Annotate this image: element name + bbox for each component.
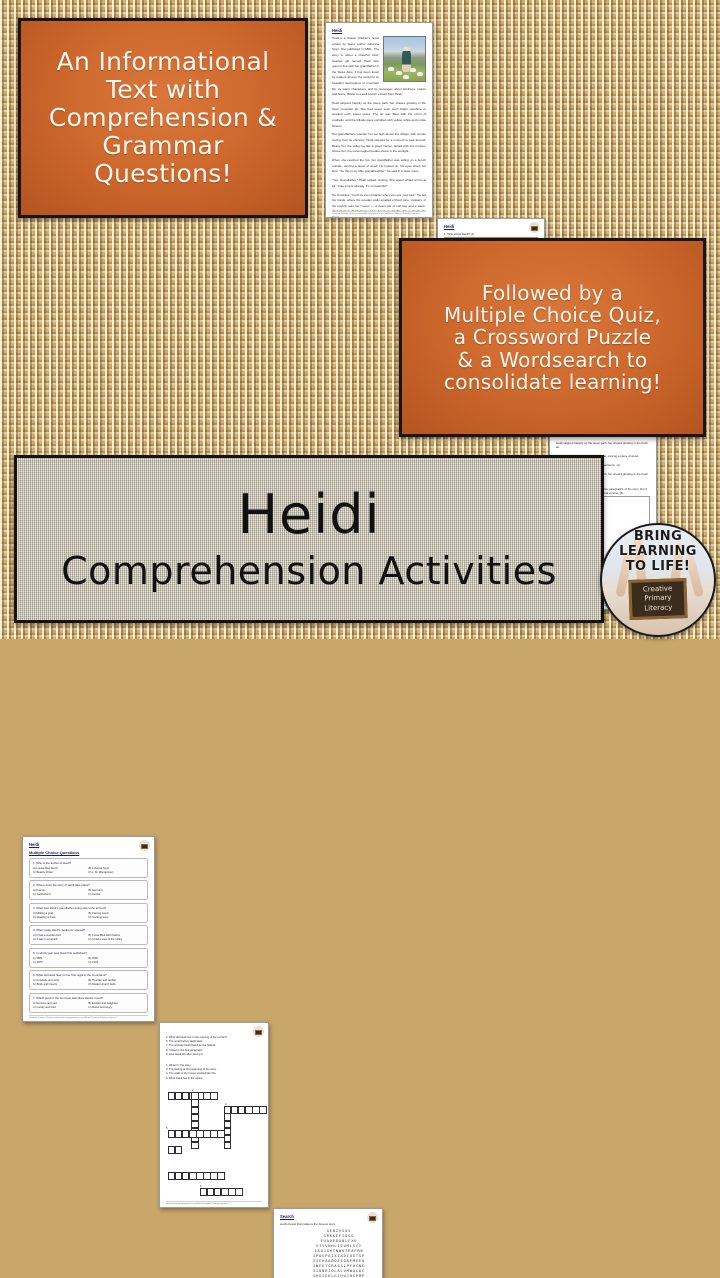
crossword-entry[interactable]	[224, 1107, 231, 1149]
mcq-item[interactable]: 1. Who is the author of Heidi? A) Louisa…	[29, 858, 148, 878]
passage-paragraph: When she reached the hut, her grandfathe…	[332, 158, 426, 175]
mcq-item[interactable]: 2. Where does the story of Heidi take pl…	[29, 880, 148, 900]
brand-logo-icon	[529, 222, 540, 233]
sheet-title: Heidi	[29, 842, 148, 847]
callout-line: consolidate learning!	[444, 371, 661, 393]
wordsearch-intro: words below that relate to the famous st…	[280, 1222, 376, 1226]
badge-line: TO LIFE!	[626, 559, 690, 574]
mcq-question: 6. What did Heidi hear on her first nigh…	[33, 973, 144, 977]
mcq-option[interactable]: D) Distant church bells	[89, 983, 145, 987]
brand-logo-icon	[139, 840, 150, 851]
wordsearch-row: IHUZEKLGIHUJHSPMP	[280, 1274, 383, 1278]
callout-line: Questions!	[94, 160, 232, 188]
clue: 6. What Heidi has in the alpine.	[166, 1077, 262, 1081]
mcq-option[interactable]: C) Birds and insects	[33, 983, 89, 987]
mcq-option[interactable]: C) 1875	[33, 961, 89, 965]
mcq-question: 4. What made Heidi's 'bedroom' special?	[33, 928, 144, 932]
crossword-entry[interactable]	[192, 1093, 199, 1150]
crossword-entry[interactable]	[168, 1173, 225, 1180]
callout-line: & a Wordsearch to	[458, 349, 648, 371]
sheet-multiple-choice: Heidi Multiple Choice Questions 1. Who i…	[22, 836, 155, 1022]
crossword-down-clues: 1. Winter in the story. 3. The feeling a…	[166, 1064, 262, 1081]
sheet-wordsearch: Search words below that relate to the fa…	[273, 1208, 383, 1278]
mcq-option[interactable]: D) Bored and angry	[89, 1006, 145, 1010]
passage-paragraph: "Yes, Grandfather," Heidi replied, smili…	[332, 178, 426, 189]
title-bar: Heidi Comprehension Activities	[14, 455, 604, 623]
sheet-title: Heidi	[332, 28, 426, 33]
grammar-item: Heidi skipped happily up the steep path,…	[556, 441, 650, 449]
badge-line: LEARNING	[619, 544, 697, 559]
callout-line: a Crossword Puzzle	[454, 326, 652, 348]
mcq-option[interactable]: C) Beatrix Potter	[33, 871, 89, 875]
mcq-question: 5. In which year was Heidi first publish…	[33, 951, 144, 955]
callout-line: An Informational	[57, 48, 270, 76]
sheet-crossword: 2. What did Heidi see in the opening of …	[159, 1022, 269, 1208]
mcq-question: 1. Who is the author of Heidi?	[33, 861, 144, 865]
wordsearch-grid[interactable]: GEBZVSUV GRRKEFIDGG EUAQEDABLFXU VTYVNHL…	[280, 1229, 383, 1278]
mcq-question: 7. Which word in the text best describes…	[33, 996, 144, 1000]
callout-line: Text with	[106, 76, 220, 104]
passage-paragraph: Her grandfather's wooden hut sat high ab…	[332, 132, 426, 155]
mcq-option[interactable]: D) It had a view of the valley	[89, 938, 145, 942]
crossword-entry[interactable]	[168, 1131, 225, 1138]
page-title: Heidi	[237, 488, 380, 542]
chalkboard-icon: Creative Primary Literacy	[628, 578, 687, 620]
mcq-item[interactable]: 7. Which word in the text best describes…	[29, 993, 148, 1013]
mcq-option[interactable]: C) Switzerland	[33, 893, 89, 897]
mcq-option[interactable]: D) Cooking soup	[89, 916, 145, 920]
mcq-question: 2. Where does the story of Heidi take pl…	[33, 883, 144, 887]
sheet-title: Heidi	[444, 224, 538, 229]
chalkboard-text: Creative Primary Literacy	[632, 585, 685, 614]
callout-line: Comprehension &	[49, 104, 277, 132]
sheet-title: Search	[280, 1214, 376, 1219]
mcq-question: 3. What was Heidi's grandfather doing wh…	[33, 906, 144, 910]
crossword-grid[interactable]: 2 4 5 9	[166, 1085, 262, 1201]
brand-logo-icon	[367, 1212, 378, 1223]
callout-line: Multiple Choice Quiz,	[444, 304, 661, 326]
sheet-credit: Creative Primary Literacy www.teacherspa…	[29, 1015, 148, 1019]
callout-line: Followed by a	[482, 282, 623, 304]
passage-paragraph: Heidi skipped happily up the steep path,…	[332, 101, 426, 129]
crossword-entry[interactable]	[168, 1147, 182, 1154]
sheet-subtitle: Multiple Choice Questions	[29, 850, 148, 855]
callout-line: Grammar	[102, 132, 223, 160]
mcq-item[interactable]: 5. In which year was Heidi first publish…	[29, 948, 148, 968]
brand-logo-icon	[253, 1026, 264, 1037]
callout-followed-by: Followed by a Multiple Choice Quiz, a Cr…	[399, 238, 706, 437]
mcq-option[interactable]: C) Lonely and tired	[33, 1006, 89, 1010]
brand-badge: BRING LEARNING TO LIFE! Creative Primary…	[600, 523, 716, 637]
mcq-option[interactable]: D) L. M. Montgomery	[89, 871, 145, 875]
badge-line: BRING	[634, 529, 682, 544]
mcq-option[interactable]: C) It was in a hayloft	[33, 938, 89, 942]
sheet-credit: Creative Primary Literacy www.teacherspa…	[332, 211, 426, 215]
mcq-item[interactable]: 6. What did Heidi hear on her first nigh…	[29, 970, 148, 990]
mcq-option[interactable]: D) Austria	[89, 893, 145, 897]
page-subtitle: Comprehension Activities	[61, 552, 557, 590]
crossword-entry[interactable]	[200, 1189, 242, 1196]
mcq-option[interactable]: D) 1901	[89, 961, 145, 965]
callout-informational-text: An Informational Text with Comprehension…	[18, 18, 308, 218]
sheet-passage: Heidi Heidi is a classic children's nove…	[325, 22, 433, 218]
crossword-across-clues: 2. What did Heidi see in the opening of …	[166, 1036, 262, 1057]
mcq-option[interactable]: C) Reading a book	[33, 916, 89, 920]
mcq-item[interactable]: 3. What was Heidi's grandfather doing wh…	[29, 903, 148, 923]
heidi-illustration	[383, 36, 426, 82]
sheet-credit: www.teacherspayteachers.com/Store/Creati…	[166, 1201, 262, 1205]
mcq-item[interactable]: 4. What made Heidi's 'bedroom' special? …	[29, 925, 148, 945]
question-text: 1. Who wrote Heidi? (1)	[444, 232, 538, 236]
